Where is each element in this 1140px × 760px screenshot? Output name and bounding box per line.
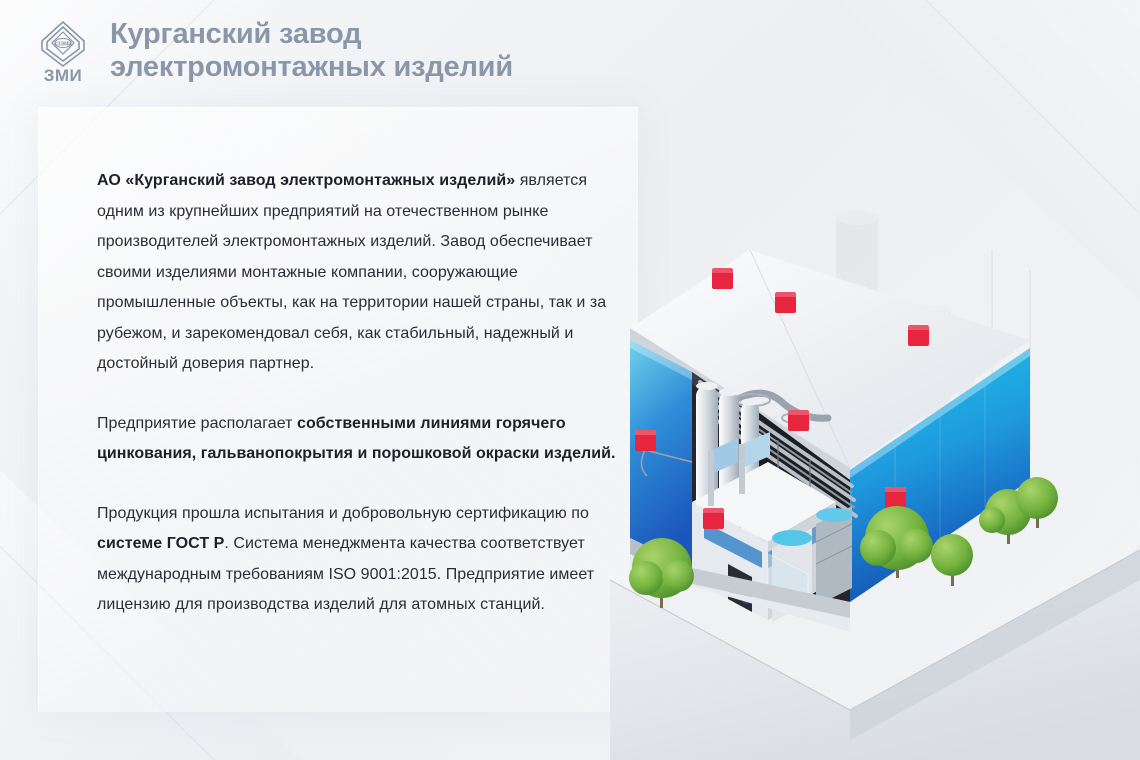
paragraph-certification-run-1: системе ГОСТ Р	[97, 535, 224, 552]
glass-partition	[768, 554, 808, 620]
interior-cutaway	[692, 372, 850, 602]
factory-illustration	[600, 150, 1140, 760]
paragraph-certification-run-0: Продукция прошла испытания и добровольну…	[97, 505, 589, 522]
background-smokestacks	[836, 211, 1030, 450]
paragraph-capabilities-run-0: Предприятие располагает	[97, 415, 297, 432]
paragraph-intro: АО «Курганский завод электромонтажных из…	[97, 166, 620, 380]
page-title: Курганский завод электромонтажных издели…	[110, 18, 513, 86]
production-line-machine	[692, 432, 836, 620]
ground-plane	[610, 550, 1140, 760]
worker-figure	[743, 583, 749, 604]
paragraph-intro-run-0: АО «Курганский завод электромонтажных из…	[97, 172, 515, 189]
paragraph-capabilities: Предприятие располагает собственными лин…	[97, 409, 620, 470]
building-floor	[630, 538, 850, 632]
exterior-cable	[641, 450, 692, 476]
landscaping-trees	[629, 477, 1058, 608]
wall-left-blue	[630, 340, 692, 568]
logo-inner-text: КЗЭМИ	[54, 41, 72, 47]
highlight-markers	[635, 268, 929, 529]
paragraph-intro-run-1: является одним из крупнейших предприятий…	[97, 172, 606, 372]
paragraph-certification: Продукция прошла испытания и добровольну…	[97, 499, 620, 621]
storage-tanks	[772, 506, 852, 622]
slide-canvas: КЗЭМИ ЗМИ Курганский завод электромонтаж…	[0, 0, 1140, 760]
wall-right-blue	[850, 348, 1030, 602]
logo-monogram: ЗМИ	[44, 66, 83, 84]
page-title-line-2: электромонтажных изделий	[110, 51, 513, 84]
building-roof	[630, 250, 1030, 480]
zmi-diamond-logo: КЗЭМИ ЗМИ	[38, 20, 88, 84]
page-title-line-1: Курганский завод	[110, 18, 513, 51]
description-card: АО «Курганский завод электромонтажных из…	[38, 107, 638, 712]
silo-columns	[696, 382, 759, 568]
slide-header: КЗЭМИ ЗМИ Курганский завод электромонтаж…	[0, 0, 1140, 104]
ceiling-pipework	[700, 382, 856, 516]
